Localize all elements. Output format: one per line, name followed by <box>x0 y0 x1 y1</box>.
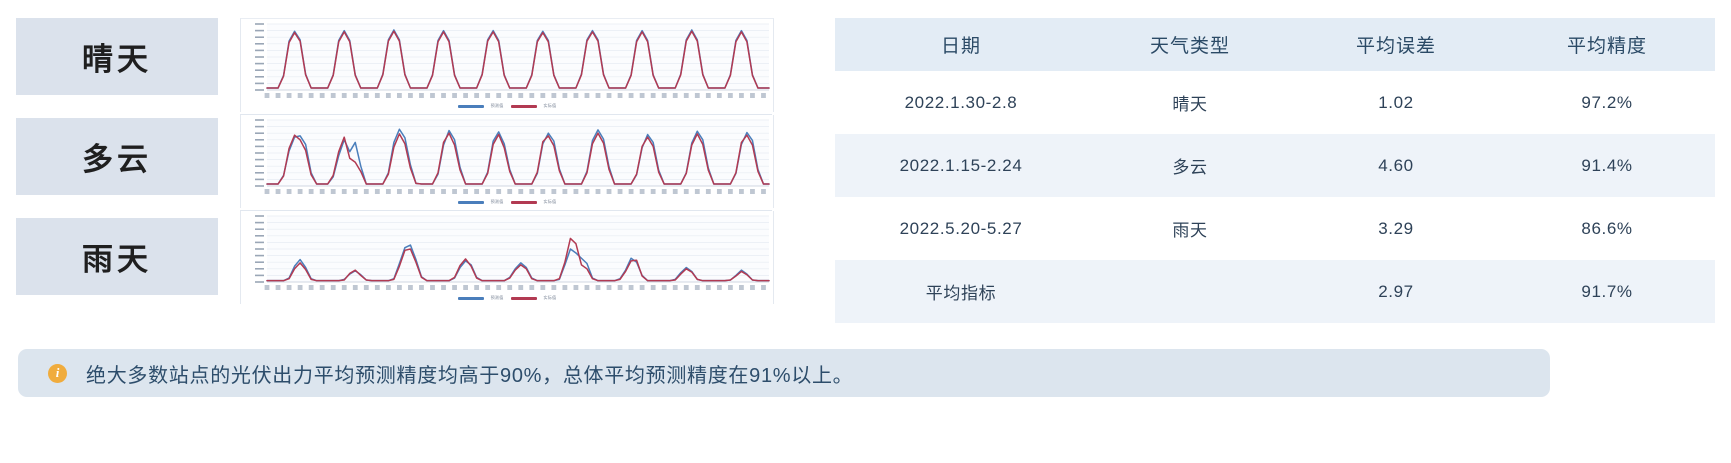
table-row-summary: 平均指标 2.97 91.7% <box>835 260 1715 323</box>
cell-date: 2022.1.15-2.24 <box>835 134 1087 197</box>
chart-panel-cloudy: 预测值 实际值 <box>240 115 774 208</box>
legend-label-actual: 实际值 <box>544 199 557 205</box>
cell-mean-error: 2.97 <box>1293 260 1499 323</box>
cell-date: 平均指标 <box>835 260 1087 323</box>
cell-mean-error: 4.60 <box>1293 134 1499 197</box>
accuracy-table-zone: 日期 天气类型 平均误差 平均精度 2022.1.30-2.8 晴天 1.02 … <box>835 18 1715 323</box>
table-header-weather-type: 天气类型 <box>1087 18 1293 71</box>
table-header-mean-accuracy: 平均精度 <box>1499 18 1715 71</box>
legend-swatch-predicted-icon <box>458 105 484 108</box>
cell-mean-accuracy: 86.6% <box>1499 197 1715 260</box>
legend-swatch-predicted-icon <box>458 201 484 204</box>
legend-swatch-actual-icon <box>511 201 537 204</box>
chart-legend-sunny: 预测值 实际值 <box>241 101 773 111</box>
cell-mean-accuracy: 91.7% <box>1499 260 1715 323</box>
table-header-date: 日期 <box>835 18 1087 71</box>
weather-label-sunny: 晴天 <box>16 18 218 95</box>
table-row: 2022.1.30-2.8 晴天 1.02 97.2% <box>835 71 1715 134</box>
cell-weather: 多云 <box>1087 134 1293 197</box>
weather-label-column: 晴天 多云 雨天 <box>16 18 218 318</box>
weather-label-rainy-text: 雨天 <box>82 234 152 279</box>
table-header-mean-error: 平均误差 <box>1293 18 1499 71</box>
report-panel: 晴天 多云 雨天 预测值 实际值 预测值 实际值 <box>0 0 1731 463</box>
chart-plot-sunny <box>241 19 773 112</box>
cell-weather <box>1087 260 1293 323</box>
legend-label-predicted: 预测值 <box>491 103 504 109</box>
accuracy-table: 日期 天气类型 平均误差 平均精度 2022.1.30-2.8 晴天 1.02 … <box>835 18 1715 323</box>
summary-note-bar: i 绝大多数站点的光伏出力平均预测精度均高于90%，总体平均预测精度在91%以上… <box>18 349 1550 397</box>
weather-label-cloudy: 多云 <box>16 118 218 195</box>
summary-note-text: 绝大多数站点的光伏出力平均预测精度均高于90%，总体平均预测精度在91%以上。 <box>86 359 853 388</box>
cell-mean-error: 1.02 <box>1293 71 1499 134</box>
legend-label-actual: 实际值 <box>544 103 557 109</box>
legend-label-actual: 实际值 <box>544 295 557 301</box>
table-row: 2022.1.15-2.24 多云 4.60 91.4% <box>835 134 1715 197</box>
legend-swatch-actual-icon <box>511 105 537 108</box>
info-icon: i <box>48 364 67 383</box>
table-row: 2022.5.20-5.27 雨天 3.29 86.6% <box>835 197 1715 260</box>
chart-plot-rainy <box>241 211 773 304</box>
chart-panel-sunny: 预测值 实际值 <box>240 18 774 112</box>
cell-mean-accuracy: 97.2% <box>1499 71 1715 134</box>
table-header-row: 日期 天气类型 平均误差 平均精度 <box>835 18 1715 71</box>
legend-label-predicted: 预测值 <box>491 199 504 205</box>
cell-weather: 晴天 <box>1087 71 1293 134</box>
cell-weather: 雨天 <box>1087 197 1293 260</box>
weather-label-rainy: 雨天 <box>16 218 218 295</box>
legend-swatch-actual-icon <box>511 297 537 300</box>
cell-mean-error: 3.29 <box>1293 197 1499 260</box>
chart-column: 预测值 实际值 预测值 实际值 预测值 实际值 <box>240 18 772 306</box>
cell-date: 2022.5.20-5.27 <box>835 197 1087 260</box>
chart-legend-cloudy: 预测值 实际值 <box>241 197 773 207</box>
chart-legend-rainy: 预测值 实际值 <box>241 293 773 303</box>
chart-plot-cloudy <box>241 115 773 208</box>
weather-label-cloudy-text: 多云 <box>82 134 152 179</box>
cell-date: 2022.1.30-2.8 <box>835 71 1087 134</box>
weather-label-sunny-text: 晴天 <box>82 34 152 79</box>
chart-panel-rainy: 预测值 实际值 <box>240 211 774 304</box>
legend-label-predicted: 预测值 <box>491 295 504 301</box>
cell-mean-accuracy: 91.4% <box>1499 134 1715 197</box>
legend-swatch-predicted-icon <box>458 297 484 300</box>
